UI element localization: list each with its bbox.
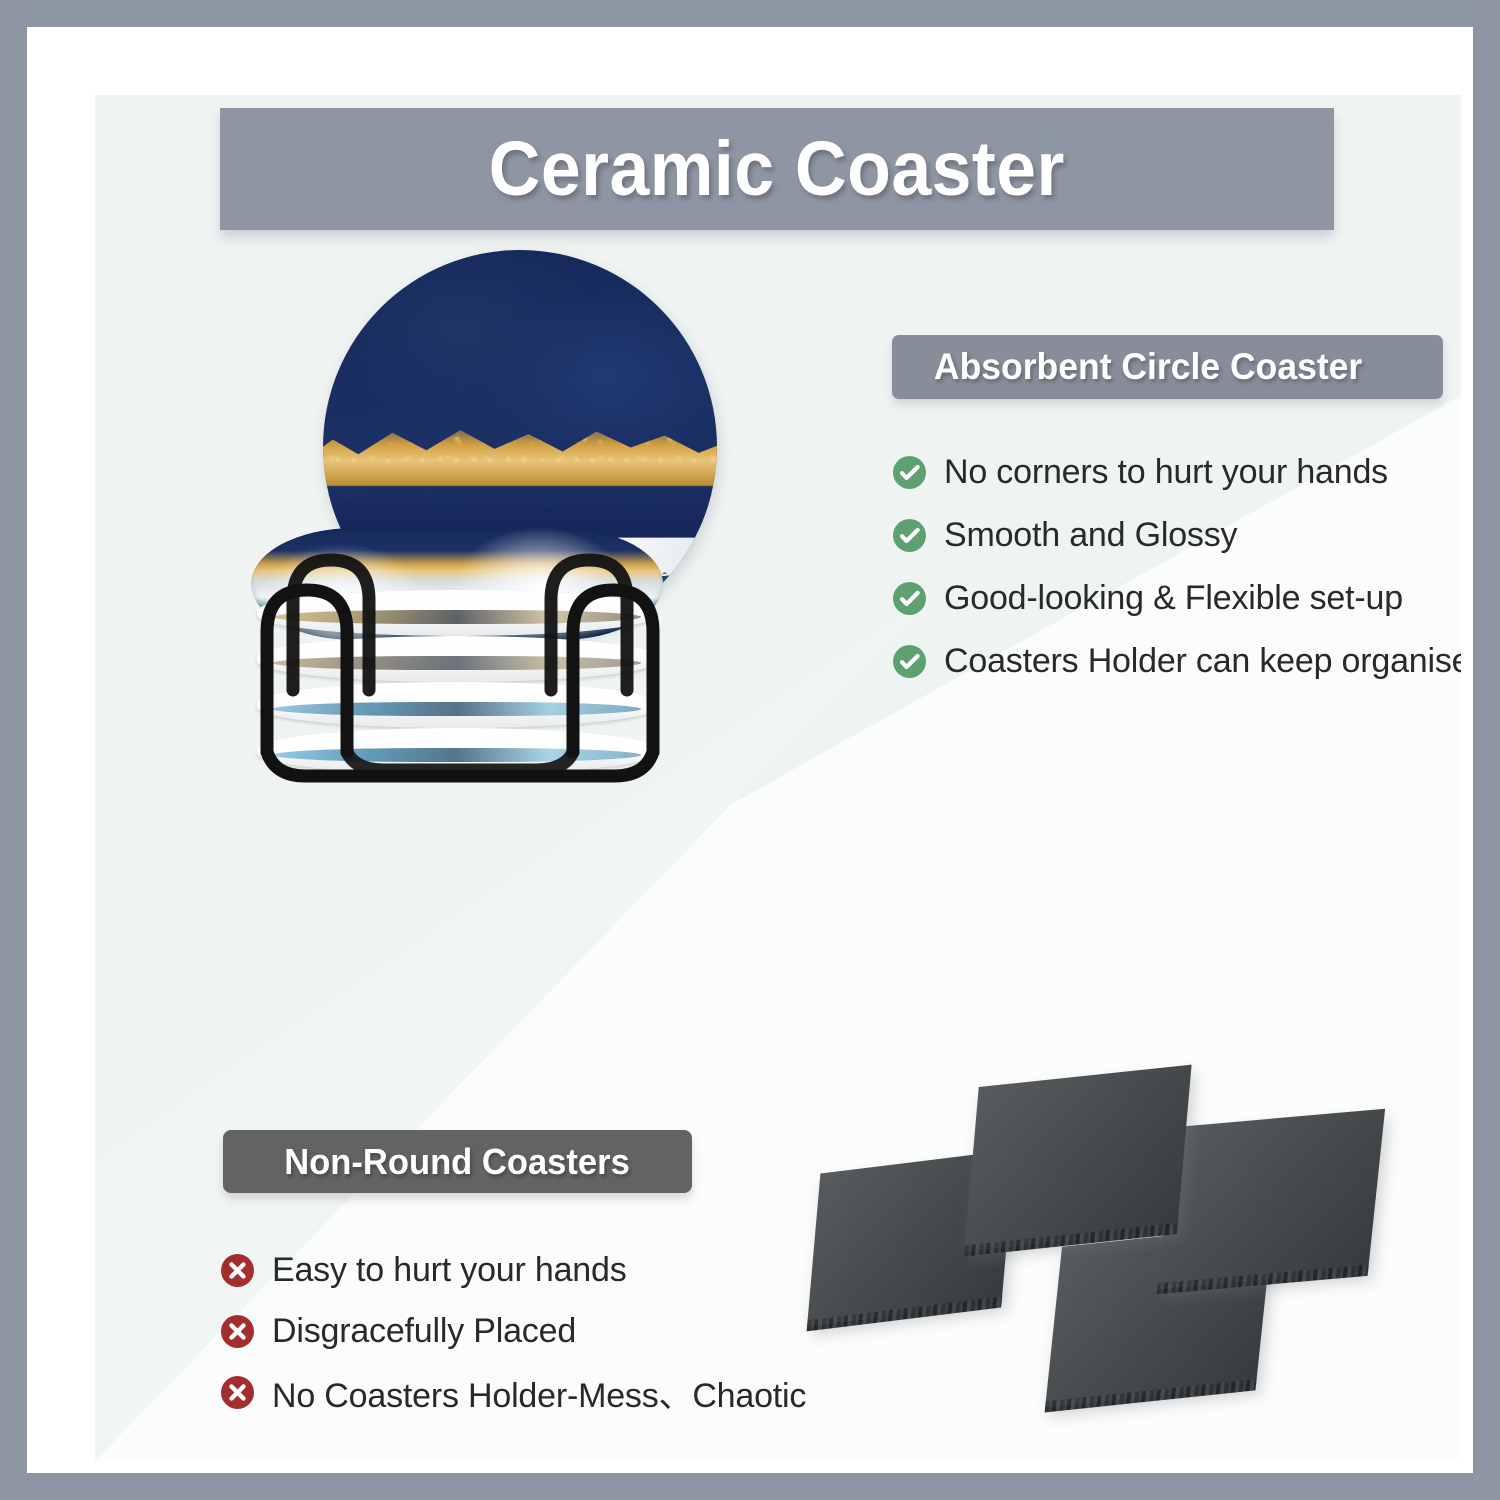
list-item: Smooth and Glossy: [893, 504, 1461, 567]
list-item-label: Easy to hurt your hands: [272, 1251, 627, 1290]
cons-heading-label: Non-Round Coasters: [284, 1141, 630, 1183]
x-circle-icon: [221, 1254, 254, 1287]
list-item: No Coasters Holder-Mess、Chaotic: [221, 1362, 841, 1423]
cons-bullet-list: Easy to hurt your hands Disgracefully Pl…: [221, 1240, 841, 1423]
black-metal-coaster-holder: [235, 490, 685, 820]
list-item-label: No corners to hurt your hands: [944, 453, 1388, 492]
check-circle-icon: [893, 456, 926, 489]
check-circle-icon: [893, 582, 926, 615]
list-item: Good-looking & Flexible set-up: [893, 567, 1461, 630]
pros-bullet-list: No corners to hurt your hands Smooth and…: [893, 441, 1461, 693]
check-circle-icon: [893, 645, 926, 678]
page-title: Ceramic Coaster: [489, 125, 1065, 214]
list-item: Coasters Holder can keep organised: [893, 630, 1461, 693]
pros-heading-label: Absorbent Circle Coaster: [934, 346, 1362, 388]
outer-frame: Ceramic Coaster: [0, 0, 1500, 1500]
list-item: Disgracefully Placed: [221, 1301, 841, 1362]
content-panel: Ceramic Coaster: [95, 95, 1461, 1461]
list-item-label: Coasters Holder can keep organised: [944, 642, 1461, 681]
list-item-label: No Coasters Holder-Mess、Chaotic: [272, 1368, 806, 1417]
x-circle-icon: [221, 1315, 254, 1348]
white-matte: Ceramic Coaster: [27, 27, 1473, 1473]
list-item: No corners to hurt your hands: [893, 441, 1461, 504]
list-item-label: Smooth and Glossy: [944, 516, 1237, 555]
list-item: Easy to hurt your hands: [221, 1240, 841, 1301]
list-item-label: Good-looking & Flexible set-up: [944, 579, 1403, 618]
list-item-label: Disgracefully Placed: [272, 1312, 576, 1351]
cons-section-heading-banner: Non-Round Coasters: [223, 1130, 692, 1193]
pros-section-heading-banner: Absorbent Circle Coaster: [892, 335, 1443, 399]
page-title-banner: Ceramic Coaster: [220, 108, 1334, 230]
slate-coaster: [964, 1065, 1191, 1252]
check-circle-icon: [893, 519, 926, 552]
square-slate-coasters-image: [795, 1055, 1415, 1455]
slate-chipped-edge: [1045, 1379, 1257, 1412]
round-coaster-product-image: [235, 250, 685, 950]
slate-coaster: [1157, 1109, 1385, 1290]
x-circle-icon: [221, 1376, 254, 1409]
